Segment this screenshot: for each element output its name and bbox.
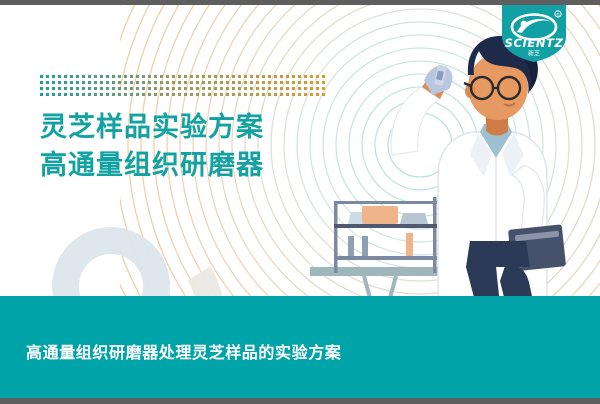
dot-grid-dot bbox=[262, 93, 265, 96]
dot-grid-dot bbox=[64, 81, 67, 84]
dot-grid-dot bbox=[262, 81, 265, 84]
dot-grid-dot bbox=[82, 81, 85, 84]
dot-grid-dot bbox=[136, 87, 139, 90]
dot-grid-dot bbox=[52, 81, 55, 84]
dot-grid-dot bbox=[190, 87, 193, 90]
dot-grid-dot bbox=[184, 75, 187, 78]
dot-grid-dot bbox=[226, 93, 229, 96]
dot-grid-dot bbox=[298, 81, 301, 84]
dot-grid-dot bbox=[40, 75, 43, 78]
dot-grid-dot bbox=[40, 93, 43, 96]
dot-grid-dot bbox=[82, 75, 85, 78]
dot-grid-dot bbox=[220, 81, 223, 84]
dot-grid-dot bbox=[208, 75, 211, 78]
top-chrome-bar bbox=[0, 0, 600, 5]
dot-grid-dot bbox=[202, 81, 205, 84]
dot-grid-dot bbox=[166, 81, 169, 84]
dot-grid-dot bbox=[220, 93, 223, 96]
dot-grid-dot bbox=[160, 75, 163, 78]
dot-grid-dot bbox=[178, 75, 181, 78]
logo-chinese-mark: 新芝 bbox=[528, 50, 540, 58]
dot-grid-dot bbox=[238, 93, 241, 96]
dot-grid-dot bbox=[202, 93, 205, 96]
dot-grid-dot bbox=[316, 81, 319, 84]
dot-grid-dot bbox=[100, 81, 103, 84]
dot-grid-dot bbox=[70, 87, 73, 90]
dot-grid-dot bbox=[214, 81, 217, 84]
dot-grid-dot bbox=[76, 81, 79, 84]
poster-canvas: 灵芝样品实验方案 高通量组织研磨器 bbox=[0, 0, 600, 404]
dot-grid-dot bbox=[322, 87, 325, 90]
dot-grid-dot bbox=[232, 93, 235, 96]
dot-grid-dot bbox=[196, 81, 199, 84]
dot-grid-dot bbox=[64, 93, 67, 96]
dot-grid-dot bbox=[298, 93, 301, 96]
dot-grid-dot bbox=[232, 87, 235, 90]
dot-grid-dot bbox=[196, 93, 199, 96]
dot-grid-dot bbox=[178, 87, 181, 90]
dot-grid-dot bbox=[304, 87, 307, 90]
dot-grid-dot bbox=[64, 87, 67, 90]
dot-grid-dot bbox=[148, 93, 151, 96]
dot-grid-dot bbox=[46, 75, 49, 78]
dot-grid-dot bbox=[202, 75, 205, 78]
dot-grid-dot bbox=[136, 81, 139, 84]
dot-grid-dot bbox=[292, 93, 295, 96]
dot-grid-dot bbox=[76, 93, 79, 96]
dot-grid-dot bbox=[250, 81, 253, 84]
dot-grid-dot bbox=[76, 75, 79, 78]
dot-grid-dot bbox=[304, 93, 307, 96]
dot-grid-dot bbox=[184, 87, 187, 90]
dot-grid-dot bbox=[244, 81, 247, 84]
dot-grid-dot bbox=[40, 81, 43, 84]
dot-grid-dot bbox=[40, 87, 43, 90]
dot-grid-dot bbox=[292, 87, 295, 90]
dot-grid-dot bbox=[118, 93, 121, 96]
dot-grid-dot bbox=[58, 87, 61, 90]
dot-grid-dot bbox=[52, 87, 55, 90]
dot-grid-dot bbox=[208, 81, 211, 84]
dot-grid-dot bbox=[310, 75, 313, 78]
dot-grid-dot bbox=[280, 75, 283, 78]
dot-grid-dot bbox=[172, 81, 175, 84]
dot-grid-dot bbox=[238, 87, 241, 90]
dot-grid-dot bbox=[316, 93, 319, 96]
dot-grid-dot bbox=[52, 75, 55, 78]
dot-grid-dot bbox=[268, 75, 271, 78]
dot-grid-dot bbox=[70, 81, 73, 84]
dot-grid-dot bbox=[52, 93, 55, 96]
dot-grid-dot bbox=[142, 81, 145, 84]
dot-grid-dot bbox=[286, 93, 289, 96]
dot-grid-dot bbox=[124, 87, 127, 90]
dot-grid-dot bbox=[82, 87, 85, 90]
dot-grid-dot bbox=[106, 75, 109, 78]
dot-grid-dot bbox=[46, 87, 49, 90]
dot-grid-dot bbox=[154, 75, 157, 78]
dot-grid-dot bbox=[148, 87, 151, 90]
dot-grid-dot bbox=[238, 81, 241, 84]
dot-grid-row bbox=[40, 75, 325, 78]
dot-grid-dot bbox=[46, 81, 49, 84]
dot-grid-dot bbox=[88, 75, 91, 78]
dot-grid-dot bbox=[172, 75, 175, 78]
dot-grid-dot bbox=[226, 75, 229, 78]
dot-grid-dot bbox=[130, 87, 133, 90]
headline-line-1: 灵芝样品实验方案 bbox=[40, 109, 264, 147]
dot-grid-dot bbox=[232, 81, 235, 84]
dot-grid-dot bbox=[280, 81, 283, 84]
dot-grid-dot bbox=[88, 87, 91, 90]
dot-grid-row bbox=[40, 87, 325, 90]
dot-grid-dot bbox=[46, 93, 49, 96]
dot-grid-dot bbox=[310, 81, 313, 84]
dot-grid-dot bbox=[250, 87, 253, 90]
dot-grid-dot bbox=[112, 81, 115, 84]
dot-grid-row bbox=[40, 93, 325, 96]
dot-grid-dot bbox=[208, 87, 211, 90]
headline-block: 灵芝样品实验方案 高通量组织研磨器 bbox=[40, 109, 264, 186]
dot-grid-dot bbox=[76, 87, 79, 90]
dot-grid-dot bbox=[322, 75, 325, 78]
dot-grid-dot bbox=[70, 75, 73, 78]
dot-grid-dot bbox=[250, 75, 253, 78]
dot-grid-dot bbox=[154, 87, 157, 90]
dot-grid-dot bbox=[184, 81, 187, 84]
dot-grid-dot bbox=[118, 81, 121, 84]
dot-grid-dot bbox=[112, 87, 115, 90]
dot-grid-dot bbox=[190, 81, 193, 84]
dot-grid-dot bbox=[190, 75, 193, 78]
lab-cart bbox=[334, 197, 437, 273]
dot-grid-dot bbox=[280, 93, 283, 96]
dot-grid-dot bbox=[130, 75, 133, 78]
dot-grid-dot bbox=[82, 93, 85, 96]
dot-grid-dot bbox=[94, 75, 97, 78]
headline-line-2: 高通量组织研磨器 bbox=[40, 147, 264, 185]
dot-grid-dot bbox=[262, 75, 265, 78]
registered-symbol: ® bbox=[556, 12, 560, 17]
dot-grid-dot bbox=[130, 93, 133, 96]
dot-grid-dot bbox=[148, 75, 151, 78]
dot-grid-dot bbox=[106, 81, 109, 84]
dot-grid-dot bbox=[142, 75, 145, 78]
dot-grid-dot bbox=[250, 93, 253, 96]
scientz-logo[interactable]: ® SCIENTZ 新芝 bbox=[500, 5, 568, 63]
dot-grid-dot bbox=[112, 93, 115, 96]
dot-grid-dot bbox=[106, 93, 109, 96]
dot-grid-dot bbox=[280, 87, 283, 90]
bottom-chrome-bar bbox=[0, 398, 600, 404]
dot-grid-dot bbox=[268, 87, 271, 90]
dot-grid-dot bbox=[274, 75, 277, 78]
dot-grid-dot bbox=[118, 75, 121, 78]
raised-sleeve bbox=[391, 87, 440, 155]
dot-grid-dot bbox=[94, 87, 97, 90]
dot-grid-dot bbox=[262, 87, 265, 90]
dot-grid-dot bbox=[244, 87, 247, 90]
dot-grid-dot bbox=[166, 93, 169, 96]
dot-grid-dot bbox=[160, 93, 163, 96]
dot-grid-dot bbox=[88, 81, 91, 84]
dot-grid-dot bbox=[256, 87, 259, 90]
dot-grid-dot bbox=[184, 93, 187, 96]
dot-grid-dot bbox=[58, 75, 61, 78]
dot-grid-dot bbox=[220, 75, 223, 78]
dot-grid-dot bbox=[130, 81, 133, 84]
dot-grid-dot bbox=[124, 75, 127, 78]
dot-grid-dot bbox=[214, 93, 217, 96]
dot-grid-dot bbox=[106, 87, 109, 90]
dot-grid-dot bbox=[178, 81, 181, 84]
dot-grid-dot bbox=[94, 81, 97, 84]
dot-grid-dot bbox=[286, 81, 289, 84]
dot-grid-dot bbox=[178, 93, 181, 96]
dot-grid-dot bbox=[286, 75, 289, 78]
dot-grid-dot bbox=[226, 81, 229, 84]
dot-grid-dot bbox=[148, 81, 151, 84]
dot-grid-dot bbox=[64, 75, 67, 78]
dot-grid-dot bbox=[112, 75, 115, 78]
dot-grid-dot bbox=[274, 81, 277, 84]
dot-grid-dot bbox=[190, 93, 193, 96]
dot-grid-dot bbox=[154, 81, 157, 84]
banner-caption: 高通量组织研磨器处理灵芝样品的实验方案 bbox=[0, 339, 341, 363]
dot-grid-dot bbox=[274, 93, 277, 96]
dot-grid-dot bbox=[166, 75, 169, 78]
dot-grid-dot bbox=[286, 87, 289, 90]
dot-grid-dot bbox=[118, 87, 121, 90]
dot-grid-dot bbox=[316, 87, 319, 90]
dot-grid-dot bbox=[256, 93, 259, 96]
dot-grid-dot bbox=[268, 81, 271, 84]
dot-grid-dot bbox=[226, 87, 229, 90]
dot-grid-dot bbox=[298, 87, 301, 90]
dot-grid-dot bbox=[256, 75, 259, 78]
dot-grid-dot bbox=[196, 75, 199, 78]
logo-wordmark: SCIENTZ bbox=[505, 36, 564, 50]
dot-grid-dot bbox=[220, 87, 223, 90]
dot-grid-dot bbox=[322, 81, 325, 84]
dot-grid-dot bbox=[172, 87, 175, 90]
dot-grid-dot bbox=[214, 75, 217, 78]
dot-grid-dot bbox=[196, 87, 199, 90]
dot-grid-dot bbox=[124, 81, 127, 84]
dot-grid-dot bbox=[292, 75, 295, 78]
bottom-banner: 高通量组织研磨器处理灵芝样品的实验方案 bbox=[0, 296, 600, 398]
dot-grid-dot bbox=[322, 93, 325, 96]
dot-grid-dot bbox=[244, 75, 247, 78]
dot-grid-dot bbox=[310, 87, 313, 90]
dot-grid-dot bbox=[232, 75, 235, 78]
dot-grid-dot bbox=[298, 75, 301, 78]
dot-grid-dot bbox=[274, 87, 277, 90]
dot-grid-dot bbox=[136, 75, 139, 78]
dot-grid-dot bbox=[202, 87, 205, 90]
dot-grid-dot bbox=[88, 93, 91, 96]
dot-grid-dot bbox=[304, 81, 307, 84]
dot-grid-dot bbox=[316, 75, 319, 78]
dot-grid-dot bbox=[100, 87, 103, 90]
dot-grid-dot bbox=[304, 75, 307, 78]
dot-grid-dot bbox=[58, 81, 61, 84]
dot-grid-dot bbox=[142, 87, 145, 90]
dot-grid-dot bbox=[256, 81, 259, 84]
dot-grid-dot bbox=[208, 93, 211, 96]
dot-grid-dot bbox=[166, 87, 169, 90]
dot-grid-dot bbox=[70, 93, 73, 96]
dot-grid-dot bbox=[172, 93, 175, 96]
dot-grid-dot bbox=[154, 93, 157, 96]
dot-grid-dot bbox=[124, 93, 127, 96]
dot-grid-dot bbox=[58, 93, 61, 96]
dot-grid-dot bbox=[292, 81, 295, 84]
dot-grid-dot bbox=[100, 75, 103, 78]
dot-grid-dot bbox=[100, 93, 103, 96]
dot-grid-dot bbox=[214, 87, 217, 90]
dot-grid-dot bbox=[268, 93, 271, 96]
dot-grid-dot bbox=[160, 87, 163, 90]
dot-grid-row bbox=[40, 81, 325, 84]
dot-grid-dot bbox=[142, 93, 145, 96]
dot-grid-dot bbox=[310, 93, 313, 96]
dot-grid-dot bbox=[136, 93, 139, 96]
dot-grid-decoration bbox=[40, 75, 325, 96]
dot-grid-dot bbox=[244, 93, 247, 96]
dot-grid-dot bbox=[94, 93, 97, 96]
dot-grid-dot bbox=[160, 81, 163, 84]
dot-grid-dot bbox=[238, 75, 241, 78]
